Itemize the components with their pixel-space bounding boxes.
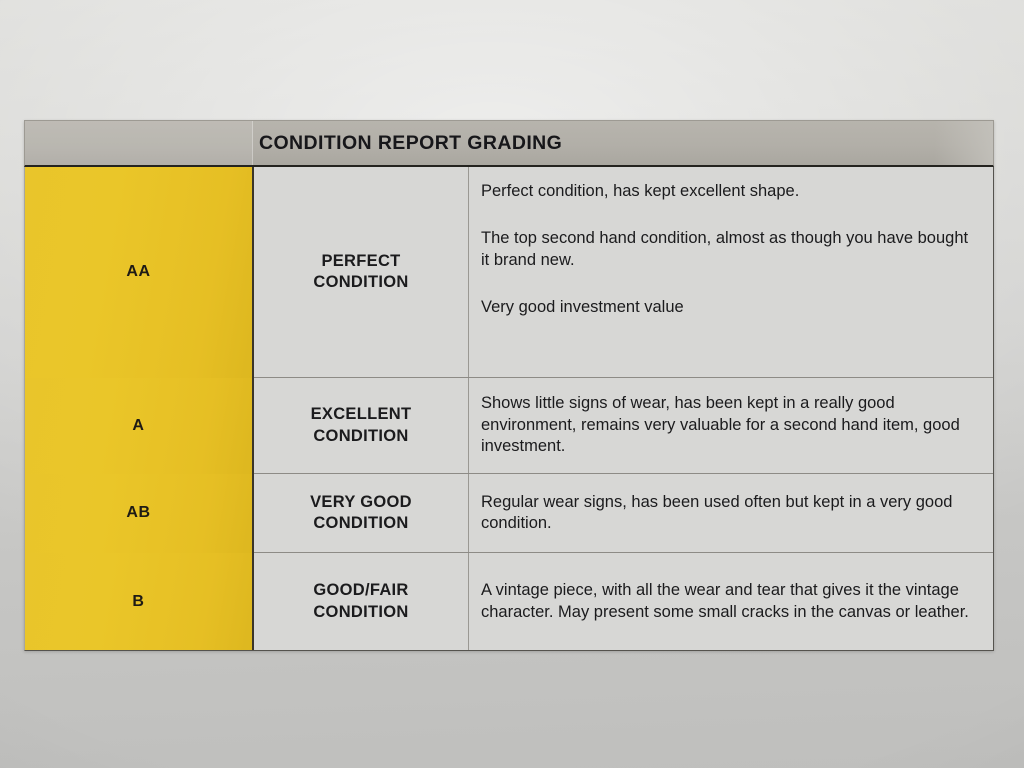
grade-description-cell: Perfect condition, has kept excellent sh… [469,167,993,377]
grade-name-cell: GOOD/FAIR CONDITION [254,553,469,650]
grade-code-cell: AB [25,474,254,553]
table-row: AB VERY GOOD CONDITION Regular wear sign… [25,474,993,553]
table-title: CONDITION REPORT GRADING [253,132,562,155]
description-paragraph: A vintage piece, with all the wear and t… [481,580,979,623]
grade-name-line-2: CONDITION [310,513,412,534]
table-header-left-spacer [25,121,253,165]
photo-backdrop: CONDITION REPORT GRADING AA PERFECT COND… [0,0,1024,768]
grade-code-cell: AA [25,167,254,378]
grade-name-line-1: PERFECT [313,251,408,272]
grade-name-line-1: VERY GOOD [310,492,412,513]
table-row: AA PERFECT CONDITION Perfect condition, … [25,167,993,378]
table-body: AA PERFECT CONDITION Perfect condition, … [24,167,994,651]
grade-code-cell: B [25,553,254,650]
grade-code-cell: A [25,378,254,474]
grade-name-line-2: CONDITION [313,272,408,293]
grade-name-line-1: EXCELLENT [311,404,412,425]
description-paragraph: Regular wear signs, has been used often … [481,492,979,535]
table-row: A EXCELLENT CONDITION Shows little signs… [25,378,993,474]
header-glare [935,121,993,165]
grade-name-cell: PERFECT CONDITION [254,167,469,377]
table-header-bar: CONDITION REPORT GRADING [24,120,994,167]
description-paragraph: The top second hand condition, almost as… [481,228,979,271]
description-paragraph: Very good investment value [481,297,979,318]
condition-report-grading-table: CONDITION REPORT GRADING AA PERFECT COND… [24,120,994,651]
grade-name-cell: VERY GOOD CONDITION [254,474,469,552]
grade-name-line-2: CONDITION [313,602,408,623]
grade-description-cell: Shows little signs of wear, has been kep… [469,378,993,473]
grade-name-cell: EXCELLENT CONDITION [254,378,469,473]
grade-description-cell: A vintage piece, with all the wear and t… [469,553,993,650]
grade-name-line-1: GOOD/FAIR [313,580,408,601]
table-row: B GOOD/FAIR CONDITION A vintage piece, w… [25,553,993,650]
description-paragraph: Perfect condition, has kept excellent sh… [481,181,979,202]
grade-name-line-2: CONDITION [311,426,412,447]
description-paragraph: Shows little signs of wear, has been kep… [481,393,979,457]
grade-description-cell: Regular wear signs, has been used often … [469,474,993,552]
